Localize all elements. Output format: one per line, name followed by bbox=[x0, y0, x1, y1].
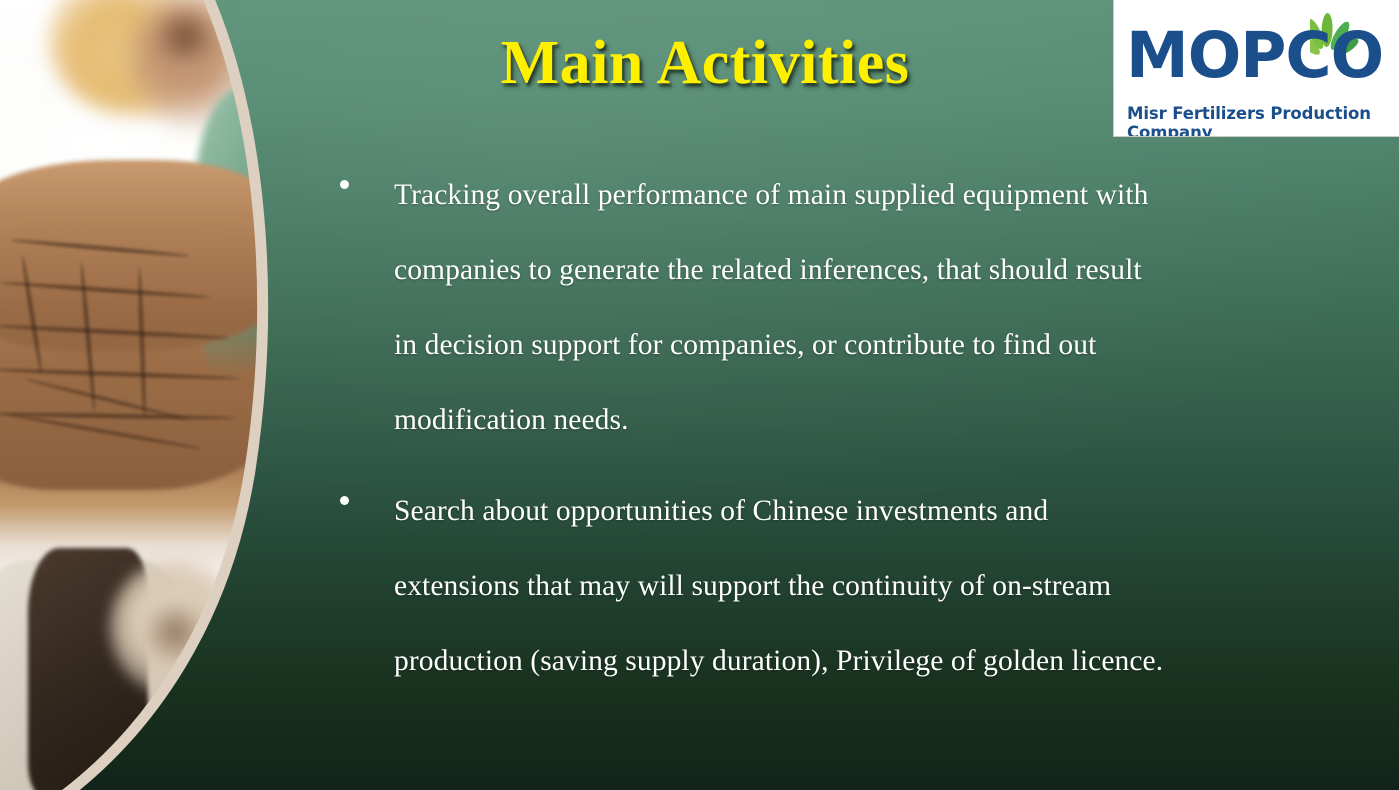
decorative-photo-panel bbox=[0, 0, 300, 790]
page-title: Main Activities bbox=[300, 28, 1110, 99]
bullet-dot-icon bbox=[340, 496, 349, 505]
bullet-text: Search about opportunities of Chinese in… bbox=[394, 474, 1285, 699]
slide: Main Activities MOPCO Misr Fertilizers P… bbox=[0, 0, 1399, 790]
bullet-text: Tracking overall performance of main sup… bbox=[394, 158, 1285, 458]
bullet-dot-icon bbox=[340, 180, 349, 189]
bullet-list: Tracking overall performance of main sup… bbox=[335, 158, 1285, 715]
logo-wordmark: MOPCO bbox=[1126, 24, 1383, 87]
company-logo: MOPCO Misr Fertilizers Production Compan… bbox=[1113, 0, 1399, 137]
logo-tagline: Misr Fertilizers Production Company bbox=[1127, 104, 1399, 137]
list-item: Search about opportunities of Chinese in… bbox=[335, 474, 1285, 699]
list-item: Tracking overall performance of main sup… bbox=[335, 158, 1285, 458]
